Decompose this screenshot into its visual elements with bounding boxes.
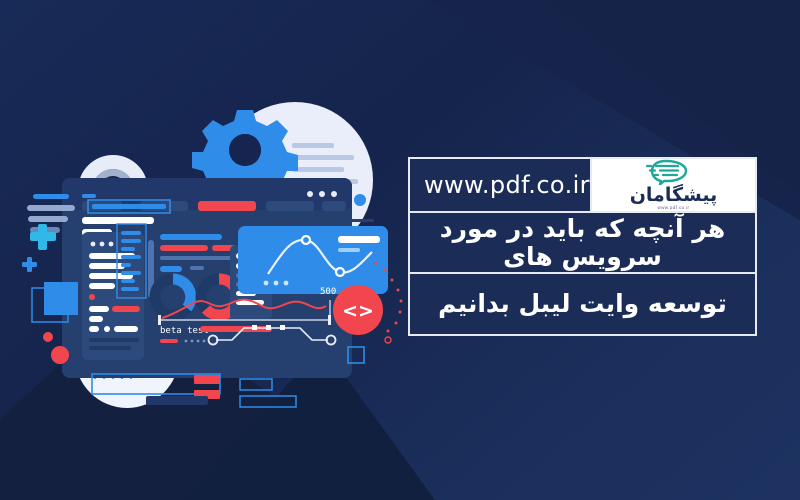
brand-logo: پیشگامان www.pdf.co.ir: [630, 159, 718, 211]
site-url: www.pdf.co.ir: [424, 171, 590, 199]
outline-bar-fill: [92, 204, 166, 209]
nav-mini-label: [82, 194, 96, 198]
headline-line-1: هر آنچه که باید در مورد سرویس های: [410, 215, 755, 270]
code-icon: <>: [342, 300, 374, 322]
dot-red-small: [43, 332, 53, 342]
logo-wordmark: پیشگامان: [630, 186, 718, 205]
illustration-dashboard: 500 beta test <>: [0, 0, 420, 500]
blue-dot-accent: [354, 194, 366, 206]
square-solid-accent: [44, 282, 78, 315]
bottom-shadow-bar: [146, 396, 208, 405]
logo-cell: پیشگامان www.pdf.co.ir: [590, 159, 755, 211]
window-dots: [307, 191, 337, 197]
text-panel: www.pdf.co.ir پی: [408, 157, 757, 334]
logo-sub-url: www.pdf.co.ir: [657, 206, 689, 211]
bottom-red-bars: [194, 375, 220, 399]
poster-canvas: 500 beta test <>: [0, 0, 800, 500]
speech-bubble-speed-icon: [644, 159, 702, 185]
plus-icon-small: [22, 257, 37, 272]
url-cell: www.pdf.co.ir: [410, 159, 590, 211]
gear-hole: [229, 134, 261, 166]
dot-red-large: [51, 346, 69, 364]
headline-line-2: توسعه وایت لیبل بدانیم: [410, 290, 755, 318]
url-logo-row: www.pdf.co.ir پی: [408, 157, 757, 213]
panel-card-main: [82, 232, 144, 360]
search-field: [82, 217, 154, 224]
code-badge: <>: [333, 285, 383, 335]
headline-row-2: توسعه وایت لیبل بدانیم: [408, 272, 757, 336]
bottom-outline-bars: [240, 379, 296, 407]
blue-line-chart-card: [238, 226, 388, 294]
headline-row-1: هر آنچه که باید در مورد سرویس های: [408, 211, 757, 274]
chart-value-label: 500: [320, 287, 336, 297]
